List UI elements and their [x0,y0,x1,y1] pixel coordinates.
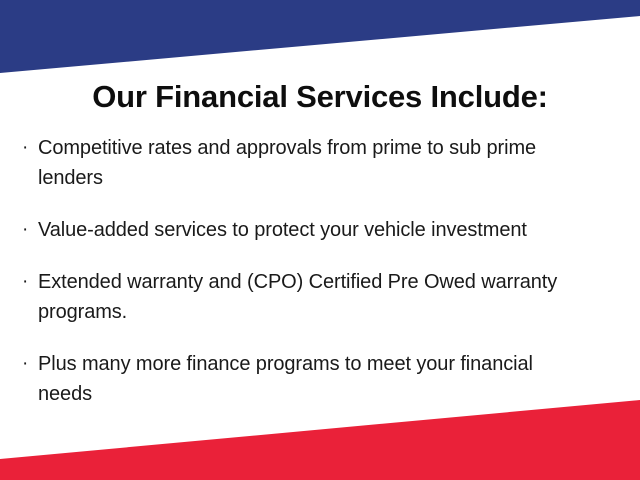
list-item-text: Competitive rates and approvals from pri… [38,133,568,193]
slide-canvas: Our Financial Services Include: · Compet… [0,0,640,480]
list-item: · Extended warranty and (CPO) Certified … [22,267,622,327]
list-item: · Plus many more finance programs to mee… [22,349,622,409]
page-title: Our Financial Services Include: [0,78,640,116]
list-item-text: Extended warranty and (CPO) Certified Pr… [38,267,558,327]
list-item-text: Value-added services to protect your veh… [38,215,622,245]
list-item-text: Plus many more finance programs to meet … [38,349,538,409]
bullet-list: · Competitive rates and approvals from p… [22,133,622,409]
bullet-dot-icon: · [22,215,38,245]
bullet-dot-icon: · [22,133,38,163]
bullet-dot-icon: · [22,349,38,379]
blue-angled-band [0,0,640,90]
list-item: · Value-added services to protect your v… [22,215,622,245]
bullet-dot-icon: · [22,267,38,297]
blue-angled-band-shape [0,0,640,90]
list-item: · Competitive rates and approvals from p… [22,133,622,193]
